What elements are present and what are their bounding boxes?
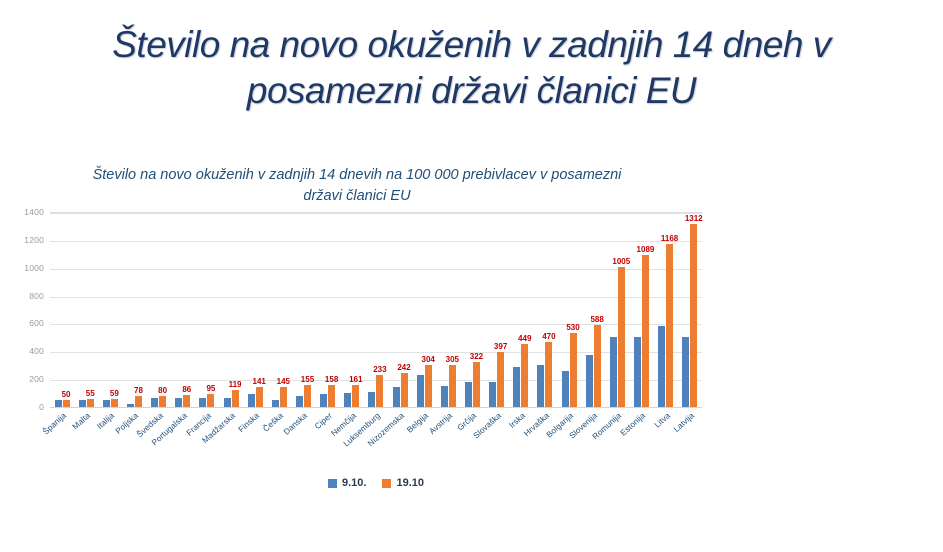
bar-series2: 50 (63, 400, 70, 407)
bar-data-label: 242 (397, 364, 410, 372)
x-axis-tick: Litva (654, 409, 678, 471)
x-axis-label: Ciper (313, 411, 334, 431)
bar-series1 (320, 394, 327, 407)
bar-group: 242 (388, 213, 412, 407)
bar-group: 1168 (654, 213, 678, 407)
bar-series1 (272, 400, 279, 407)
bar-series1 (586, 355, 593, 407)
bar-data-label: 1312 (685, 215, 703, 223)
bar-data-label: 470 (542, 333, 555, 341)
bar-series2: 397 (497, 352, 504, 407)
plot-area: 0200400600800100012001400 50555978808695… (12, 212, 702, 407)
bar-data-label: 119 (229, 381, 242, 389)
bar-series2: 530 (570, 333, 577, 407)
bar-series2: 55 (87, 399, 94, 407)
bar-series1 (224, 398, 231, 407)
bar-group: 1312 (678, 213, 702, 407)
bar-series1 (441, 386, 448, 407)
y-axis-tick: 0 (39, 402, 44, 412)
bar-group: 233 (364, 213, 388, 407)
x-axis-label: Litva (652, 411, 671, 430)
bar-data-label: 145 (277, 378, 290, 386)
legend-label: 9.10. (342, 477, 366, 489)
bar-data-label: 1005 (612, 258, 630, 266)
x-axis-tick: Slovaška (485, 409, 509, 471)
bar-series1 (151, 398, 158, 407)
bar-group: 59 (98, 213, 122, 407)
bar-data-label: 305 (446, 356, 459, 364)
bar-group: 145 (267, 213, 291, 407)
bar-data-label: 397 (494, 343, 507, 351)
bar-series2: 141 (256, 387, 263, 407)
bar-series2: 233 (376, 375, 383, 407)
bar-series1 (127, 404, 134, 407)
bar-series1 (562, 371, 569, 407)
bar-series2: 95 (207, 394, 214, 407)
bar-data-label: 1168 (661, 235, 678, 243)
x-axis-tick: Ciper (316, 409, 340, 471)
y-axis-tick: 800 (29, 291, 44, 301)
bar-series2: 1005 (618, 267, 625, 407)
bar-group: 305 (436, 213, 460, 407)
bar-group: 1089 (629, 213, 653, 407)
x-axis-tick: Bolgarija (557, 409, 581, 471)
gridline (50, 407, 702, 408)
x-axis-tick: Malta (74, 409, 98, 471)
bar-series2: 449 (521, 344, 528, 407)
bar-group: 80 (147, 213, 171, 407)
chart-title: Število na novo okuženih v zadnjih 14 dn… (12, 162, 702, 207)
bar-series1 (465, 382, 472, 407)
bar-series2: 80 (159, 396, 166, 407)
x-axis-tick: Belgija (412, 409, 436, 471)
bar-series2: 1312 (690, 224, 697, 407)
bar-data-label: 588 (590, 316, 603, 324)
bar-series2: 1089 (642, 255, 649, 407)
bar-group: 155 (291, 213, 315, 407)
bar-series1 (634, 337, 641, 407)
bar-series2: 158 (328, 385, 335, 407)
bar-data-label: 55 (86, 390, 95, 398)
bar-data-label: 233 (373, 366, 386, 374)
bar-series2: 470 (545, 342, 552, 407)
bar-series1 (393, 387, 400, 407)
bar-series1 (658, 326, 665, 407)
x-axis-tick: Finska (243, 409, 267, 471)
plot-canvas: 5055597880869511914114515515816123324230… (50, 212, 702, 407)
x-axis-tick: Estonija (629, 409, 653, 471)
bar-series1 (248, 394, 255, 407)
bar-series1 (175, 398, 182, 407)
bar-group: 1005 (605, 213, 629, 407)
bar-series2: 155 (304, 385, 311, 407)
legend-swatch (328, 479, 337, 488)
bar-group: 470 (533, 213, 557, 407)
x-axis-tick: Slovenija (581, 409, 605, 471)
chart-container: Število na novo okuženih v zadnjih 14 dn… (12, 162, 702, 507)
bar-series1 (199, 398, 206, 407)
bar-data-label: 161 (349, 376, 362, 384)
bar-data-label: 50 (62, 391, 71, 399)
y-axis-tick: 600 (29, 318, 44, 328)
bar-data-label: 304 (421, 356, 434, 364)
bar-series2: 1168 (666, 244, 673, 407)
bar-group: 161 (340, 213, 364, 407)
bar-group: 397 (485, 213, 509, 407)
y-axis-tick: 1000 (24, 263, 44, 273)
bar-data-label: 78 (134, 387, 143, 395)
y-axis-tick: 1400 (24, 207, 44, 217)
bar-data-label: 155 (301, 376, 314, 384)
bar-data-label: 141 (253, 378, 266, 386)
bar-group: 449 (509, 213, 533, 407)
bar-data-label: 86 (182, 386, 191, 394)
bar-series1 (513, 367, 520, 407)
x-axis-tick: Španija (50, 409, 74, 471)
x-axis-tick: Italija (98, 409, 122, 471)
bar-series1 (344, 393, 351, 407)
bar-group: 530 (557, 213, 581, 407)
bar-series2: 161 (352, 385, 359, 407)
x-axis-tick: Madžarska (219, 409, 243, 471)
bar-data-label: 1089 (637, 246, 655, 254)
x-axis-tick: Portugalska (171, 409, 195, 471)
bar-data-label: 59 (110, 390, 119, 398)
x-axis-tick: Latvija (678, 409, 702, 471)
x-axis-label: Španija (41, 411, 68, 436)
bar-data-label: 449 (518, 335, 531, 343)
y-axis-tick: 200 (29, 374, 44, 384)
x-axis-label: Irska (507, 411, 527, 430)
bar-series2: 304 (425, 365, 432, 407)
page-title: Število na novo okuženih v zadnjih 14 dn… (32, 22, 912, 115)
x-axis-tick: Poljska (122, 409, 146, 471)
y-axis: 0200400600800100012001400 (12, 212, 48, 407)
bar-data-label: 158 (325, 376, 338, 384)
x-axis-tick: Romunija (605, 409, 629, 471)
legend-item[interactable]: 19.10 (382, 477, 424, 489)
x-axis-tick: Hrvaška (533, 409, 557, 471)
bar-group: 119 (219, 213, 243, 407)
legend-label: 19.10 (396, 477, 424, 489)
bar-series1 (489, 382, 496, 407)
bar-series1 (682, 337, 689, 407)
bar-series2: 86 (183, 395, 190, 407)
bar-group: 50 (50, 213, 74, 407)
bar-data-label: 322 (470, 353, 483, 361)
legend-item[interactable]: 9.10. (328, 477, 366, 489)
bar-group: 158 (316, 213, 340, 407)
bar-series1 (417, 375, 424, 407)
x-axis-tick: Grčija (460, 409, 484, 471)
bar-group: 304 (412, 213, 436, 407)
bar-series-group: 5055597880869511914114515515816123324230… (50, 213, 702, 407)
bar-series2: 305 (449, 365, 456, 407)
x-axis-label: Malta (71, 411, 92, 431)
bar-data-label: 80 (158, 387, 167, 395)
bar-data-label: 95 (206, 385, 215, 393)
bar-group: 141 (243, 213, 267, 407)
bar-series1 (79, 400, 86, 407)
bar-series2: 78 (135, 396, 142, 407)
bar-group: 78 (122, 213, 146, 407)
legend-swatch (382, 479, 391, 488)
x-axis: ŠpanijaMaltaItalijaPoljskaŠvedskaPortuga… (50, 409, 702, 471)
x-axis-tick: Avstrija (436, 409, 460, 471)
bar-series1 (537, 365, 544, 407)
bar-series2: 588 (594, 325, 601, 407)
bar-series1 (368, 392, 375, 407)
bar-series1 (55, 400, 62, 407)
bar-group: 95 (195, 213, 219, 407)
bar-series2: 59 (111, 399, 118, 407)
bar-series2: 242 (401, 373, 408, 407)
bar-group: 86 (171, 213, 195, 407)
bar-series1 (103, 400, 110, 407)
x-axis-tick: Nizozemska (388, 409, 412, 471)
bar-data-label: 530 (566, 324, 579, 332)
chart-legend: 9.10.19.10 (50, 477, 702, 489)
bar-group: 588 (581, 213, 605, 407)
x-axis-tick: Irska (509, 409, 533, 471)
bar-series2: 119 (232, 390, 239, 407)
bar-group: 55 (74, 213, 98, 407)
bar-group: 322 (460, 213, 484, 407)
x-axis-tick: Češka (267, 409, 291, 471)
bar-series2: 322 (473, 362, 480, 407)
bar-series2: 145 (280, 387, 287, 407)
x-axis-tick: Danska (291, 409, 315, 471)
y-axis-tick: 400 (29, 346, 44, 356)
y-axis-tick: 1200 (24, 235, 44, 245)
bar-series1 (610, 337, 617, 407)
bar-series1 (296, 396, 303, 407)
